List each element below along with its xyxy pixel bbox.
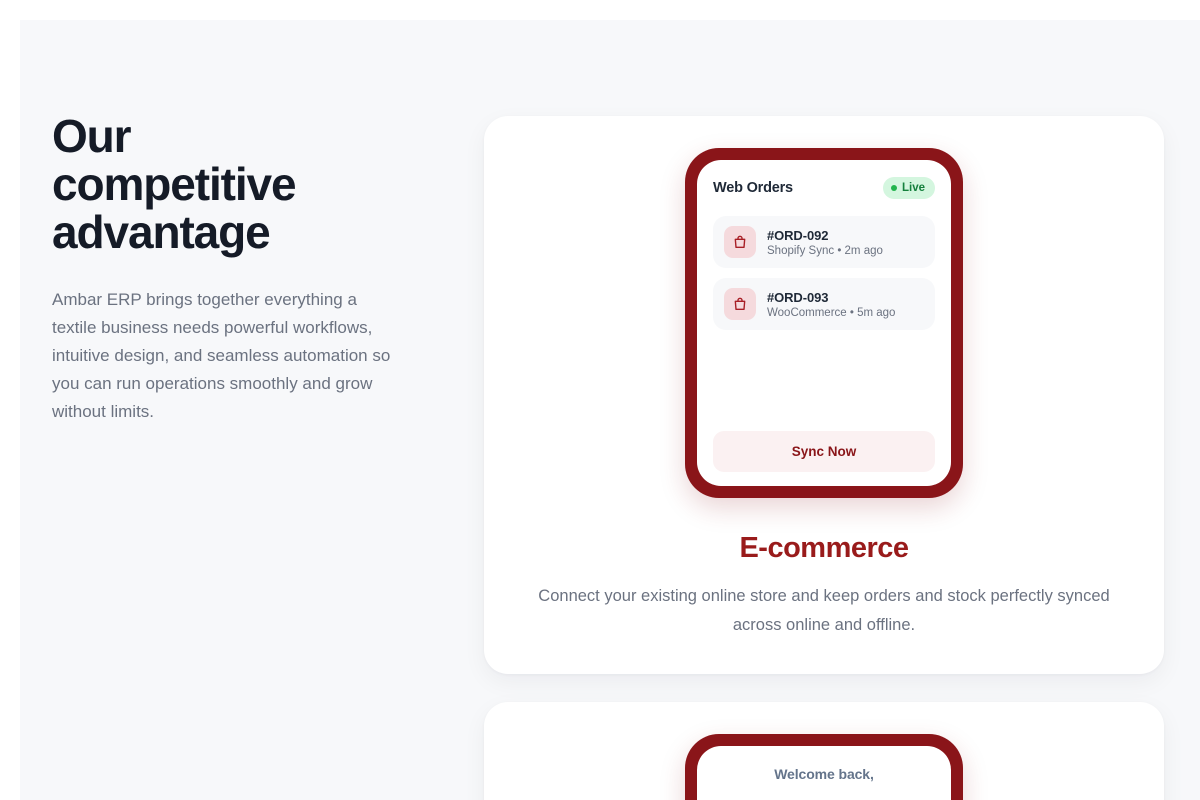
page-title: Our competitive advantage bbox=[52, 112, 382, 256]
order-id: #ORD-093 bbox=[767, 290, 895, 305]
status-badge-label: Live bbox=[902, 182, 925, 194]
phone-screen: Web Orders Live bbox=[697, 160, 951, 486]
sync-now-button[interactable]: Sync Now bbox=[713, 431, 935, 472]
phone-mockup-wrapper-next: Welcome back, bbox=[512, 734, 1136, 800]
welcome-text: Welcome back, bbox=[713, 766, 935, 782]
status-dot-icon bbox=[891, 185, 897, 191]
feature-description: Connect your existing online store and k… bbox=[512, 582, 1136, 640]
feature-cards-column: Web Orders Live bbox=[484, 116, 1164, 800]
shopping-bag-icon bbox=[724, 288, 756, 320]
list-item[interactable]: #ORD-093 WooCommerce • 5m ago bbox=[713, 278, 935, 330]
order-id: #ORD-092 bbox=[767, 228, 883, 243]
intro-paragraph: Ambar ERP brings together everything a t… bbox=[52, 286, 392, 426]
feature-title: E-commerce bbox=[512, 532, 1136, 565]
phone-screen-next: Welcome back, bbox=[697, 746, 951, 800]
order-meta: WooCommerce • 5m ago bbox=[767, 307, 895, 319]
list-item-text: #ORD-093 WooCommerce • 5m ago bbox=[767, 290, 895, 319]
list-item[interactable]: #ORD-092 Shopify Sync • 2m ago bbox=[713, 216, 935, 268]
list-item-text: #ORD-092 Shopify Sync • 2m ago bbox=[767, 228, 883, 257]
feature-card-ecommerce[interactable]: Web Orders Live bbox=[484, 116, 1164, 674]
status-badge: Live bbox=[883, 177, 935, 199]
screen-header: Web Orders Live bbox=[713, 177, 935, 199]
screen-spacer bbox=[713, 340, 935, 431]
page-surface: Our competitive advantage Ambar ERP brin… bbox=[20, 20, 1200, 800]
phone-frame-next: Welcome back, bbox=[685, 734, 963, 800]
intro-column: Our competitive advantage Ambar ERP brin… bbox=[52, 112, 452, 426]
shopping-bag-icon bbox=[724, 226, 756, 258]
screen-title: Web Orders bbox=[713, 180, 793, 196]
two-column-layout: Our competitive advantage Ambar ERP brin… bbox=[20, 20, 1200, 800]
phone-frame: Web Orders Live bbox=[685, 148, 963, 498]
order-meta: Shopify Sync • 2m ago bbox=[767, 245, 883, 257]
phone-mockup-wrapper: Web Orders Live bbox=[512, 148, 1136, 498]
feature-card-next[interactable]: Welcome back, bbox=[484, 702, 1164, 800]
